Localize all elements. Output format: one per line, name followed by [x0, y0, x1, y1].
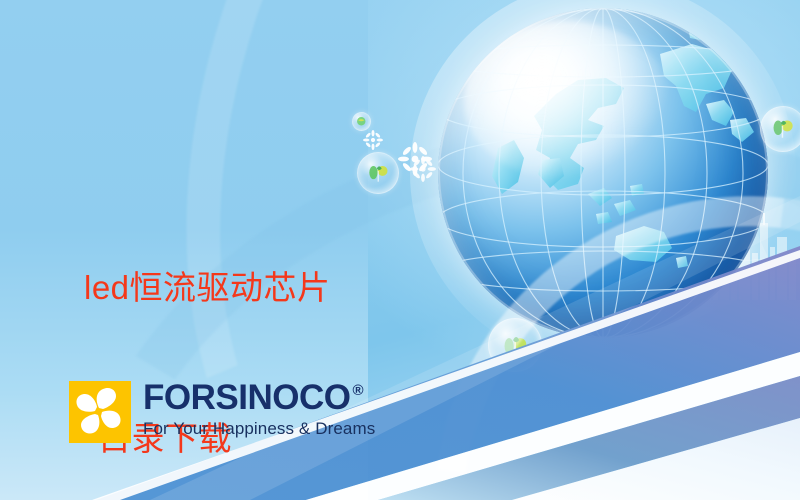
- globe-sphere: [438, 8, 768, 338]
- pinwheel-petals-icon: [69, 381, 131, 443]
- brand-logo: FORSINOCO ® For Your Happiness & Dreams: [69, 381, 375, 443]
- bubble-globe-small: [352, 112, 371, 131]
- brand-name-text: FORSINOCO: [143, 381, 350, 415]
- page-title-line-1: led恒流驱动芯片: [84, 263, 414, 313]
- earth-globe: [438, 8, 768, 338]
- brand-name: FORSINOCO ®: [143, 381, 375, 415]
- page-title: led恒流驱动芯片 目录下载: [84, 163, 414, 500]
- bubble-globe-edge: [760, 106, 800, 152]
- bubble-leaf: [488, 318, 542, 372]
- brand-tagline: For Your Happiness & Dreams: [143, 418, 375, 439]
- forsinoco-pinwheel-logo: [69, 381, 131, 443]
- registered-trademark-symbol: ®: [352, 383, 363, 398]
- poster-canvas: led恒流驱动芯片 目录下载 FORSINOCO ® For Your Happ…: [0, 0, 800, 500]
- brand-lockup-text: FORSINOCO ® For Your Happiness & Dreams: [143, 381, 375, 440]
- mini-globe-icon: [356, 116, 367, 127]
- globe-rim-light: [438, 8, 768, 338]
- mini-globe-icon: [769, 115, 796, 142]
- leaf-sprout-icon: [499, 329, 531, 361]
